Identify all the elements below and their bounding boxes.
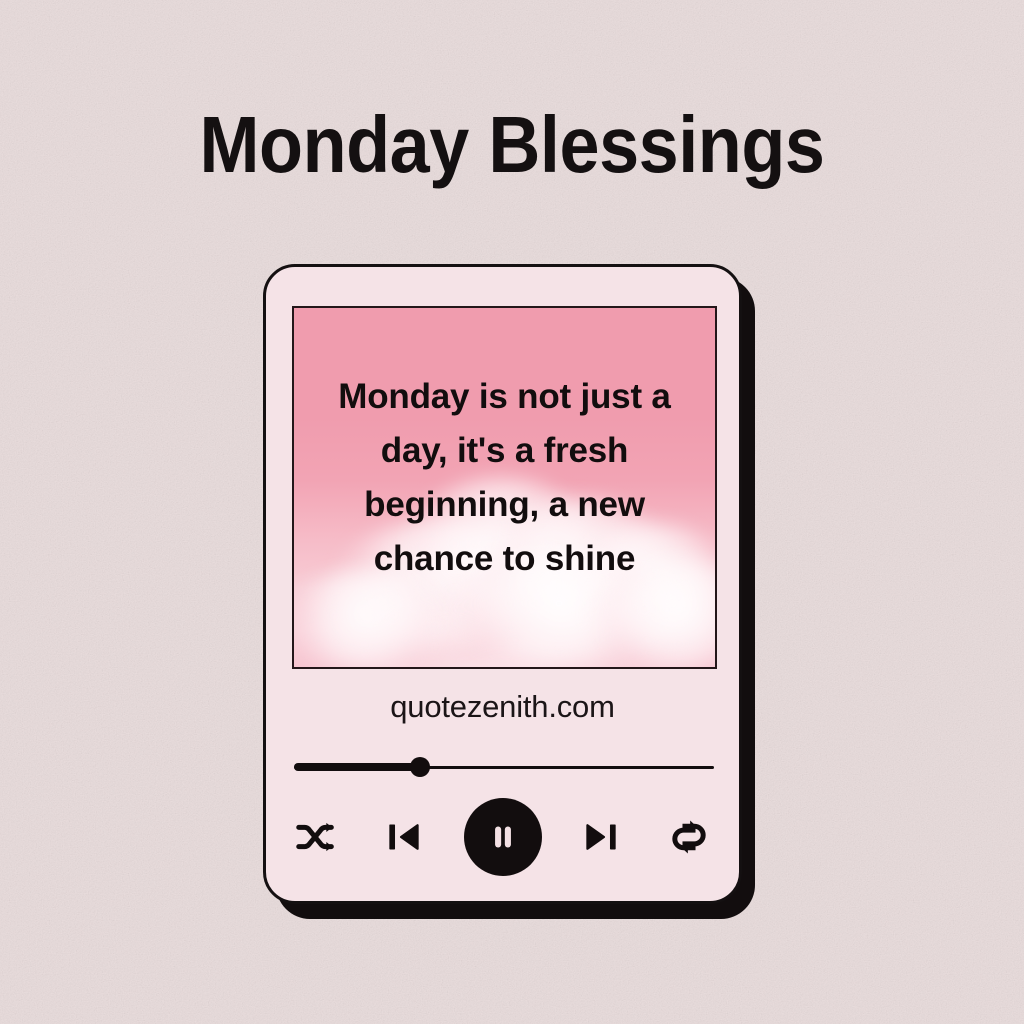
site-url: quotezenith.com <box>266 688 739 726</box>
page-title: Monday Blessings <box>51 97 973 193</box>
poster-canvas: Monday Blessings Monday is not just a da… <box>0 0 1024 1024</box>
progress-bar[interactable] <box>294 756 714 778</box>
next-track-icon <box>579 815 623 859</box>
player-controls <box>288 794 717 880</box>
pause-icon <box>486 820 520 854</box>
progress-handle[interactable] <box>410 757 430 777</box>
album-artwork: Monday is not just a day, it's a fresh b… <box>292 306 717 669</box>
shuffle-button[interactable] <box>288 809 344 865</box>
quote-text: Monday is not just a day, it's a fresh b… <box>308 370 701 586</box>
shuffle-icon <box>293 814 339 860</box>
card-body: Monday is not just a day, it's a fresh b… <box>263 264 742 904</box>
music-player-card: Monday is not just a day, it's a fresh b… <box>263 264 757 921</box>
repeat-button[interactable] <box>661 809 717 865</box>
repeat-icon <box>666 814 712 860</box>
previous-track-icon <box>382 815 426 859</box>
next-track-button[interactable] <box>573 809 629 865</box>
previous-track-button[interactable] <box>376 809 432 865</box>
progress-fill <box>294 763 420 771</box>
pause-button[interactable] <box>464 798 542 876</box>
